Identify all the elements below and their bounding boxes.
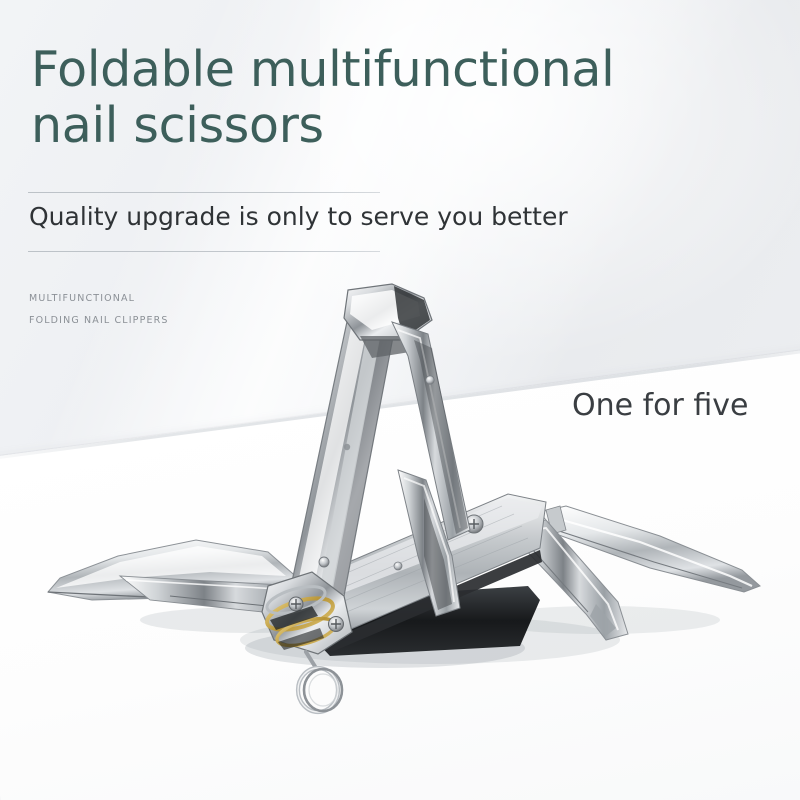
quality-watermark: QUALITY bbox=[774, 0, 800, 18]
caption-line-2: FOLDING NAIL CLIPPERS bbox=[29, 310, 169, 332]
divider-top bbox=[28, 192, 380, 193]
tagline: One for five bbox=[572, 388, 749, 423]
page-title: Foldable multifunctional nail scissors bbox=[31, 42, 691, 154]
caption-line-1: MULTIFUNCTIONAL bbox=[29, 288, 169, 310]
product-caption: MULTIFUNCTIONAL FOLDING NAIL CLIPPERS bbox=[29, 288, 169, 333]
subtitle: Quality upgrade is only to serve you bet… bbox=[29, 203, 568, 231]
divider-bottom bbox=[28, 251, 380, 252]
product-poster: QUALITY Foldable multifunctional nail sc… bbox=[0, 0, 800, 800]
